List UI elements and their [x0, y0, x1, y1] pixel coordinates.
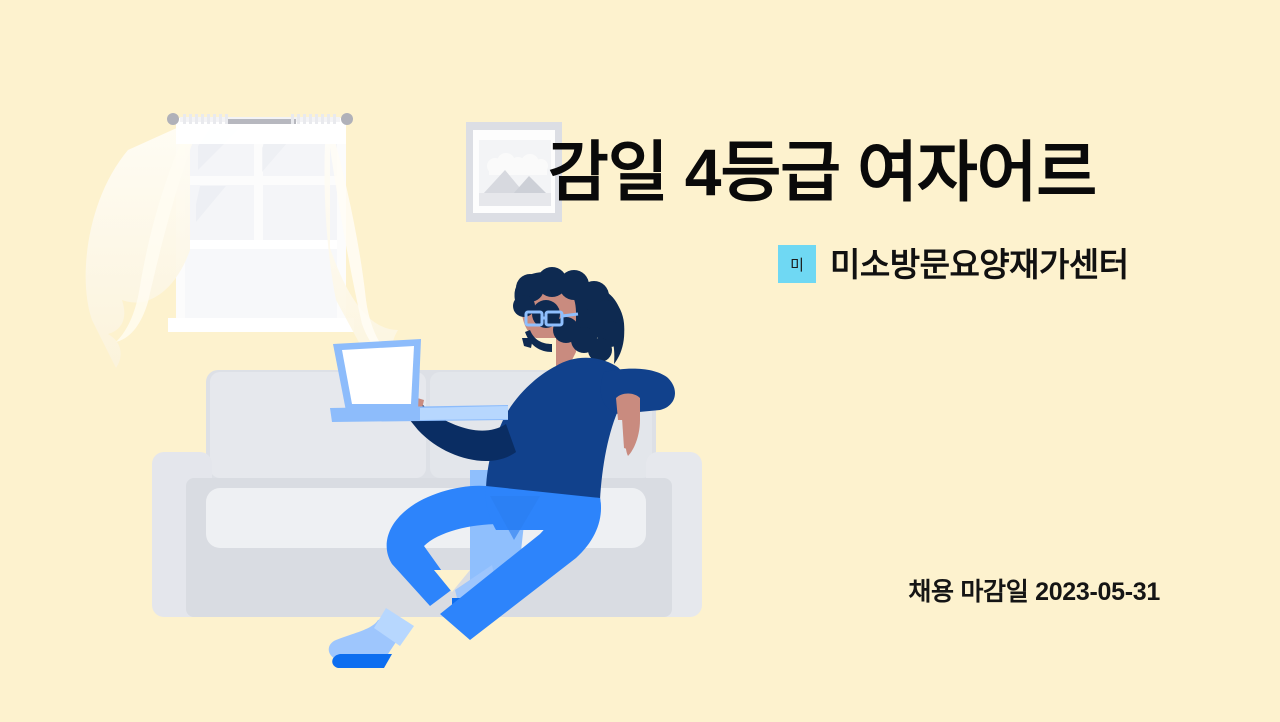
application-deadline: 채용 마감일 2023-05-31 — [908, 578, 1160, 606]
page-title: 감일 4등급 여자어르 — [548, 139, 1096, 205]
company-name: 미소방문요양재가센터 — [830, 248, 1129, 281]
company-logo-badge: 미 — [778, 245, 816, 283]
job-posting-card: 감일 4등급 여자어르 미 미소방문요양재가센터 채용 마감일 2023-05-… — [0, 0, 1280, 722]
image-mountain-icon — [479, 140, 551, 206]
card-text-content: 감일 4등급 여자어르 미 미소방문요양재가센터 채용 마감일 2023-05-… — [466, 0, 1280, 722]
deadline-row: 채용 마감일 2023-05-31 — [466, 572, 1160, 608]
title-row: 감일 4등급 여자어르 — [466, 122, 1096, 222]
company-row[interactable]: 미 미소방문요양재가센터 — [778, 245, 1129, 283]
